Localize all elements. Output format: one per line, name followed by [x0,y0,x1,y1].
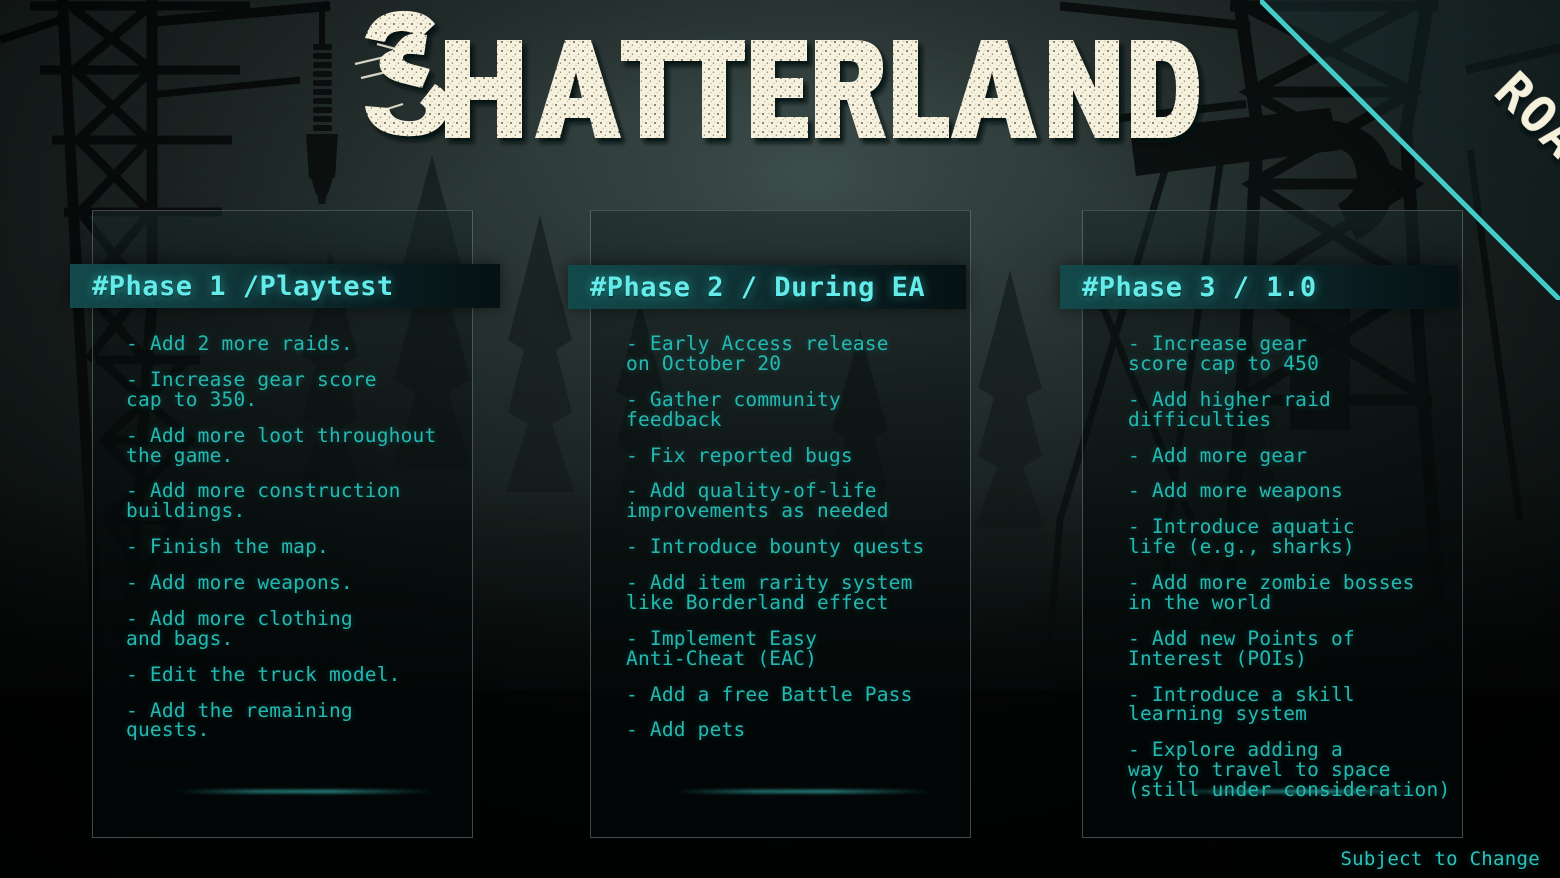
roadmap-poster: ROADMAP #Phase 1 /Playtest - Add 2 more … [0,0,1560,878]
phase-3-header[interactable]: #Phase 3 / 1.0 [1060,265,1458,309]
list-item: - Add more construction buildings. [126,481,446,521]
list-item: - Introduce bounty quests [626,537,946,557]
list-item: - Add pets [626,720,946,740]
card-bottom-glow [674,790,932,793]
phase-1-items: - Add 2 more raids. - Increase gear scor… [126,334,446,756]
list-item: - Gather community feedback [626,390,946,430]
list-item: - Add more clothing and bags. [126,609,446,649]
phase-3-title: #Phase 3 / 1.0 [1060,272,1317,303]
list-item: - Add more zombie bosses in the world [1128,573,1458,613]
phase-2-title: #Phase 2 / During EA [568,272,925,303]
phase-3-items: - Increase gear score cap to 450 - Add h… [1128,334,1458,816]
list-item: - Introduce a skill learning system [1128,685,1458,725]
list-item: - Add a free Battle Pass [626,685,946,705]
subject-to-change-note: Subject to Change [1340,848,1540,870]
list-item: - Add higher raid difficulties [1128,390,1458,430]
phase-1-header[interactable]: #Phase 1 /Playtest [70,264,500,308]
list-item: - Finish the map. [126,537,446,557]
list-item: - Add the remaining quests. [126,701,446,741]
list-item: - Add more loot throughout the game. [126,426,446,466]
phase-2-items: - Early Access release on October 20 - G… [626,334,946,756]
list-item: - Add 2 more raids. [126,334,446,354]
list-item: - Implement Easy Anti-Cheat (EAC) [626,629,946,669]
list-item: - Fix reported bugs [626,446,946,466]
phase-2-header[interactable]: #Phase 2 / During EA [568,265,966,309]
list-item: - Edit the truck model. [126,665,446,685]
list-item: - Introduce aquatic life (e.g., sharks) [1128,517,1458,557]
list-item: - Increase gear score cap to 350. [126,370,446,410]
list-item: - Add more weapons [1128,481,1458,501]
list-item: - Add item rarity system like Borderland… [626,573,946,613]
list-item: - Add more weapons. [126,573,446,593]
phase-1-title: #Phase 1 /Playtest [70,271,394,302]
card-bottom-glow [176,790,434,793]
list-item: - Increase gear score cap to 450 [1128,334,1458,374]
list-item: - Explore adding a way to travel to spac… [1128,740,1458,800]
list-item: - Add new Points of Interest (POIs) [1128,629,1458,669]
list-item: - Early Access release on October 20 [626,334,946,374]
list-item: - Add more gear [1128,446,1458,466]
list-item: - Add quality-of-life improvements as ne… [626,481,946,521]
